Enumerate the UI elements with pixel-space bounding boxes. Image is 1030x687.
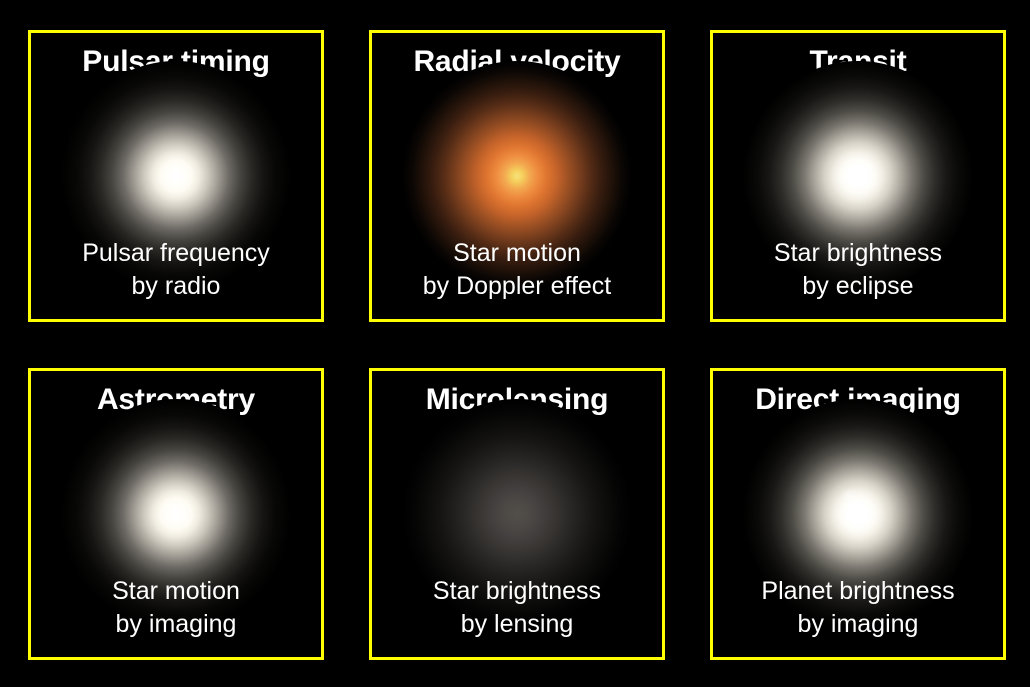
panel-caption: Star brightness by eclipse — [713, 237, 1003, 303]
panel-caption: Star brightness by lensing — [372, 575, 662, 641]
star-field — [713, 429, 1003, 599]
caption-line-1: Pulsar frequency — [31, 237, 321, 270]
caption-line-2: by Doppler effect — [372, 270, 662, 303]
star-field — [372, 91, 662, 261]
star-field — [713, 91, 1003, 261]
panel-caption: Star motion by Doppler effect — [372, 237, 662, 303]
caption-line-2: by radio — [31, 270, 321, 303]
caption-line-2: by imaging — [31, 608, 321, 641]
caption-line-2: by lensing — [372, 608, 662, 641]
caption-line-2: by imaging — [713, 608, 1003, 641]
panel-caption: Planet brightness by imaging — [713, 575, 1003, 641]
panel-microlensing: Microlensing Star brightness by lensing — [369, 368, 665, 660]
star-field — [31, 91, 321, 261]
caption-line-1: Star motion — [372, 237, 662, 270]
caption-line-1: Planet brightness — [713, 575, 1003, 608]
caption-line-1: Star motion — [31, 575, 321, 608]
panel-astrometry: Astrometry Star motion by imaging — [28, 368, 324, 660]
panel-caption: Star motion by imaging — [31, 575, 321, 641]
panel-transit: Transit Star brightness by eclipse — [710, 30, 1006, 322]
caption-line-1: Star brightness — [372, 575, 662, 608]
star-field — [372, 429, 662, 599]
star-field — [31, 429, 321, 599]
panel-pulsar-timing: Pulsar timing Pulsar frequency by radio — [28, 30, 324, 322]
panel-direct-imaging: Direct imaging Planet brightness by imag… — [710, 368, 1006, 660]
panel-grid: Pulsar timing Pulsar frequency by radio … — [28, 30, 1002, 660]
caption-line-1: Star brightness — [713, 237, 1003, 270]
panel-caption: Pulsar frequency by radio — [31, 237, 321, 303]
companion-speck-icon — [838, 488, 860, 504]
caption-line-2: by eclipse — [713, 270, 1003, 303]
exoplanet-detection-methods-figure: Pulsar timing Pulsar frequency by radio … — [0, 0, 1030, 687]
panel-radial-velocity: Radial velocity Star motion by Doppler e… — [369, 30, 665, 322]
